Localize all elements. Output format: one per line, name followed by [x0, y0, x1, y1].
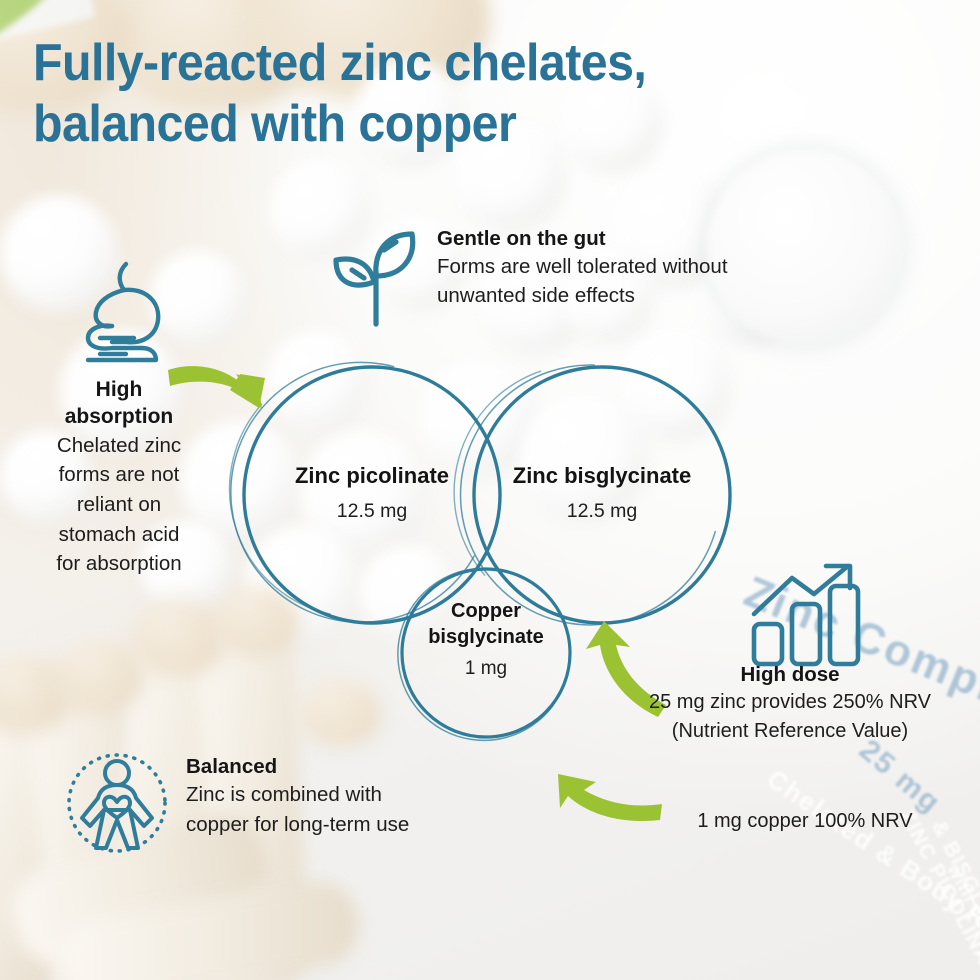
trend-line: [754, 566, 848, 614]
page-title: Fully-reacted zinc chelates, balanced wi…: [33, 33, 851, 156]
feature-gentle-on-the-gut: Gentle on the gut Forms are well tolerat…: [437, 226, 837, 310]
feature-high-absorption: High absorption Chelated zinc forms are …: [14, 376, 224, 579]
title-line-2: balanced with copper: [33, 94, 851, 155]
feature-body-line1: Chelated zinc: [14, 431, 224, 461]
infographic-canvas: Zinc Complex Chelated & Body Ready ZINC …: [0, 0, 980, 980]
bar-small: [754, 624, 782, 664]
copper-nrv-text: 1 mg copper 100% NRV: [640, 810, 970, 833]
ingredient-name-line2: bisglycinate: [402, 624, 570, 650]
feature-body-line4: stomach acid: [14, 520, 224, 550]
feature-heading-line1: High: [14, 376, 224, 403]
bg-enoki-cap: [55, 640, 143, 712]
feature-body-line1: Zinc is combined with: [186, 780, 516, 810]
feature-balanced: Balanced Zinc is combined with copper fo…: [186, 754, 516, 840]
bg-enoki-cap: [132, 600, 224, 676]
feature-body-line2: unwanted side effects: [437, 281, 837, 310]
bar-medium: [792, 604, 820, 664]
bar-chart-growth-icon: [748, 562, 864, 668]
title-line-1: Fully-reacted zinc chelates,: [33, 33, 851, 94]
ingredient-dose: 12.5 mg: [460, 500, 744, 523]
feature-heading-line2: absorption: [14, 403, 224, 430]
torso-arms-right: [117, 785, 152, 826]
ingredient-dose: 1 mg: [402, 658, 570, 680]
ingredient-name-line1: Copper: [402, 598, 570, 624]
torso-arms: [82, 785, 117, 826]
feature-heading: Gentle on the gut: [437, 226, 837, 252]
feature-high-dose: High dose 25 mg zinc provides 250% NRV (…: [610, 662, 970, 745]
heart: [104, 797, 130, 818]
feature-body-line3: reliant on: [14, 490, 224, 520]
feature-heading: High dose: [610, 662, 970, 688]
feature-body-line1: 25 mg zinc provides 250% NRV: [610, 688, 970, 716]
feature-heading: Balanced: [186, 754, 516, 780]
bar-large: [830, 586, 858, 664]
feature-body-line1: Forms are well tolerated without: [437, 252, 837, 281]
feature-body-line2: forms are not: [14, 460, 224, 490]
body-heart-icon: [62, 748, 172, 858]
feature-body-line5: for absorption: [14, 549, 224, 579]
feature-body-line2: copper for long-term use: [186, 810, 516, 840]
sprout-icon: [324, 228, 422, 328]
ingredient-copper-bisglycinate: Copper bisglycinate 1 mg: [402, 569, 570, 737]
ingredient-name: Zinc bisglycinate: [460, 463, 744, 489]
head: [105, 761, 129, 785]
stomach-icon: [68, 260, 172, 370]
feature-body-line2: (Nutrient Reference Value): [610, 717, 970, 745]
